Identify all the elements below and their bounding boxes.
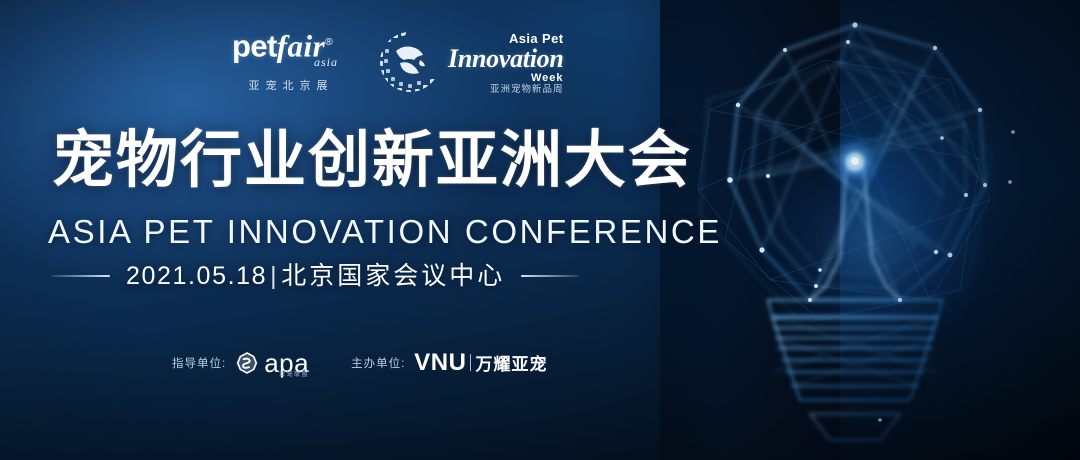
globe-mosaic-icon [376,29,442,95]
logo-row: petfair® asia 亚宠北京展 [232,28,564,95]
event-venue: 北京国家会议中心 [281,262,505,290]
event-date-venue: 2021.05.18|北京国家会议中心 [126,262,505,290]
petfair-region-label: asia [314,55,338,70]
apa-chinese-label: 亚宠联盟 [279,369,309,378]
event-date: 2021.05.18 [126,262,267,290]
sponsor-organizer: 主办单位: VNU 万耀亚宠 [351,350,547,375]
event-details-row: 2021.05.18|北京国家会议中心 [52,262,579,290]
vnu-divider-icon [470,354,471,371]
apiw-line-week: Week [448,72,564,84]
petfair-word-pet: pet [232,28,277,63]
sponsor-advisor: 指导单位: apa 亚宠联盟 [172,351,309,375]
sponsor-advisor-label: 指导单位: [172,355,226,371]
banner-content: petfair® asia 亚宠北京展 [0,0,700,460]
apa-knot-icon [235,351,259,375]
sponsor-organizer-label: 主办单位: [351,355,405,371]
decorative-rule-left [52,275,110,277]
apiw-chinese-label: 亚洲宠物新品周 [448,84,564,95]
apiw-line-innovation: Innovation [448,46,564,72]
asia-pet-innovation-week-text: Asia Pet Innovation Week 亚洲宠物新品周 [448,28,564,95]
vnu-wordmark: VNU [414,352,466,374]
asia-pet-innovation-week-logo: Asia Pet Innovation Week 亚洲宠物新品周 [376,28,564,95]
page-title-english: ASIA PET INNOVATION CONFERENCE [48,213,722,251]
vnu-logo: VNU 万耀亚宠 [414,350,547,375]
decorative-rule-right [521,275,579,277]
event-separator: | [267,262,281,290]
petfair-asia-logo: petfair® asia 亚宠北京展 [232,28,350,93]
petfair-chinese-label: 亚宠北京展 [232,77,350,93]
page-title-chinese: 宠物行业创新亚洲大会 [52,126,692,196]
conference-banner: petfair® asia 亚宠北京展 [0,0,1080,460]
apa-wordmark-wrap: apa 亚宠联盟 [264,352,309,375]
apa-logo: apa 亚宠联盟 [235,351,309,375]
sponsor-row: 指导单位: apa 亚宠联盟 主办单位: [172,350,547,375]
registered-trademark-icon: ® [325,37,332,48]
vnu-chinese-label: 万耀亚宠 [475,350,547,375]
